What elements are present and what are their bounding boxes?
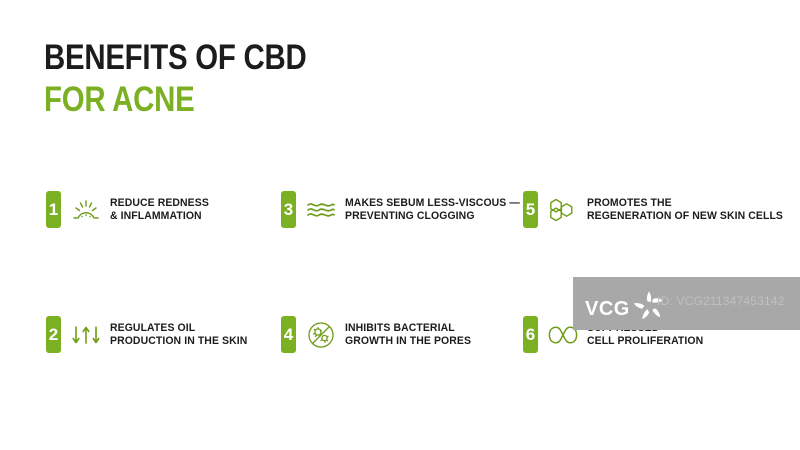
benefit-label-line2: PREVENTING CLOGGING (345, 210, 520, 223)
benefit-number-badge: 1 (46, 191, 61, 228)
benefit-label-line1: PROMOTES THE (587, 197, 783, 210)
benefit-label-line2: CELL PROLIFERATION (587, 335, 703, 348)
benefit-number-badge: 3 (281, 191, 296, 228)
benefit-label-line1: REGULATES OIL (110, 322, 247, 335)
benefit-label: REGULATES OIL PRODUCTION IN THE SKIN (110, 322, 247, 348)
benefit-number-badge: 5 (523, 191, 538, 228)
benefit-item-4: 4 INHIBITS (281, 316, 478, 353)
benefit-label-line1: REDUCE REDNESS (110, 197, 209, 210)
benefit-label-line1: MAKES SEBUM LESS-VISCOUS — (345, 197, 520, 210)
benefit-label: PROMOTES THE REGENERATION OF NEW SKIN CE… (587, 197, 783, 223)
poster-canvas: BENEFITS OF CBD FOR ACNE 1 (0, 0, 800, 450)
watermark-overlay: VCG ID: VCG211347453142 (573, 277, 800, 330)
benefit-item-1: 1 REDUCE REDNESS & INFLA (46, 191, 214, 228)
benefit-label-line1: INHIBITS BACTERIAL (345, 322, 471, 335)
wavy-lines-icon (305, 195, 337, 225)
no-bacteria-icon (305, 320, 337, 350)
benefit-label-line2: & INFLAMMATION (110, 210, 209, 223)
benefits-list: 1 REDUCE REDNESS & INFLA (0, 0, 800, 450)
benefit-item-5: 5 PROMOTES THE REGENERATION OF NEW SKIN … (523, 191, 793, 228)
sun-rays-skin-icon (70, 195, 102, 225)
benefit-label-line2: GROWTH IN THE PORES (345, 335, 471, 348)
benefit-item-3: 3 MAKES SEBUM LESS-VISCOUS — PREVENTING … (281, 191, 529, 228)
benefit-number-badge: 2 (46, 316, 61, 353)
honeycomb-cells-icon (547, 195, 579, 225)
benefit-label-line2: PRODUCTION IN THE SKIN (110, 335, 247, 348)
watermark-logo: VCG (585, 289, 666, 328)
benefit-label-line2: REGENERATION OF NEW SKIN CELLS (587, 210, 783, 223)
benefit-number-badge: 6 (523, 316, 538, 353)
benefit-label: REDUCE REDNESS & INFLAMMATION (110, 197, 209, 223)
benefit-number-badge: 4 (281, 316, 296, 353)
benefit-label: INHIBITS BACTERIAL GROWTH IN THE PORES (345, 322, 471, 348)
watermark-id-text: ID: VCG211347453142 (657, 294, 785, 308)
up-down-arrows-icon (70, 320, 102, 350)
benefit-item-2: 2 REGULATES OIL PRODUCTION IN THE SKIN (46, 316, 255, 353)
watermark-brand: VCG (585, 299, 630, 319)
benefit-label: MAKES SEBUM LESS-VISCOUS — PREVENTING CL… (345, 197, 520, 223)
